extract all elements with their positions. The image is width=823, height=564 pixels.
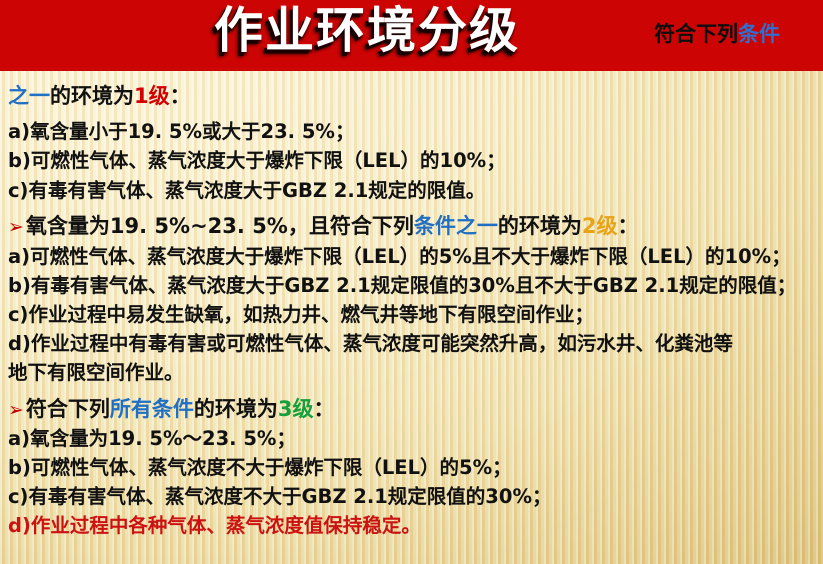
list-item: c)有毒有害气体、蒸气浓度不大于GBZ 2.1规定限值的30%； xyxy=(8,487,552,507)
header-note-blue: 条件 xyxy=(738,22,780,46)
heading-level-3-part-2: 的环境为 xyxy=(194,397,278,421)
list-item: a)氧含量为19. 5%～23. 5%； xyxy=(8,429,296,449)
list-item: b)有毒有害气体、蒸气浓度大于GBZ 2.1规定限值的30%且不大于GBZ 2.… xyxy=(8,276,796,296)
list-item: d)作业过程中有毒有害或可燃性气体、蒸气浓度可能突然升高，如污水井、化粪池等 xyxy=(8,334,733,354)
heading-level-1-part-0: 之一 xyxy=(8,84,50,108)
heading-level-1: 之一的环境为1级： xyxy=(8,86,191,107)
list-item: c)作业过程中易发生缺氧，如热力井、燃气井等地下有限空间作业； xyxy=(8,305,594,325)
heading-level-2-part-3: 2级 xyxy=(582,214,618,238)
heading-level-2: ➢氧含量为19. 5%~23. 5%，且符合下列条件之一的环境为2级： xyxy=(8,216,638,237)
slide-root: 作业环境分级 符合下列条件 之一的环境为1级： a)氧含量小于19. 5%或大于… xyxy=(0,0,823,564)
page-title: 作业环境分级 xyxy=(214,0,520,64)
heading-level-2-part-2: 的环境为 xyxy=(498,214,582,238)
list-item: b)可燃性气体、蒸气浓度不大于爆炸下限（LEL）的5%； xyxy=(8,458,512,478)
heading-level-1-part-2: 1级 xyxy=(134,84,170,108)
list-item: a)可燃性气体、蒸气浓度大于爆炸下限（LEL）的5%且不大于爆炸下限（LEL）的… xyxy=(8,247,791,267)
heading-level-3: ➢符合下列所有条件的环境为3级： xyxy=(8,399,335,420)
heading-level-3-part-1: 所有条件 xyxy=(110,397,194,421)
slide-header-banner: 作业环境分级 符合下列条件 xyxy=(0,0,823,71)
list-item-continuation: 地下有限空间作业。 xyxy=(8,363,184,383)
arrow-bullet-icon: ➢ xyxy=(8,216,26,238)
heading-level-1-part-3: ： xyxy=(170,84,191,108)
heading-level-2-part-0: 氧含量为19. 5%~23. 5%，且符合下列 xyxy=(26,214,414,238)
arrow-bullet-icon: ➢ xyxy=(8,399,26,421)
heading-level-2-part-4: ： xyxy=(617,214,638,238)
list-item: c)有毒有害气体、蒸气浓度大于GBZ 2.1规定的限值。 xyxy=(8,181,485,201)
list-item: a)氧含量小于19. 5%或大于23. 5%； xyxy=(8,122,354,142)
list-item-highlight: d)作业过程中各种气体、蒸气浓度值保持稳定。 xyxy=(8,516,421,536)
heading-level-3-part-0: 符合下列 xyxy=(26,397,110,421)
header-note: 符合下列条件 xyxy=(654,19,780,49)
slide-body: 之一的环境为1级： a)氧含量小于19. 5%或大于23. 5%； b)可燃性气… xyxy=(0,71,823,564)
heading-level-2-part-1: 条件之一 xyxy=(414,214,498,238)
header-note-black: 符合下列 xyxy=(654,22,738,46)
heading-level-3-part-3: 3级 xyxy=(278,397,314,421)
heading-level-3-part-4: ： xyxy=(314,397,335,421)
list-item: b)可燃性气体、蒸气浓度大于爆炸下限（LEL）的10%； xyxy=(8,151,506,171)
heading-level-1-part-1: 的环境为 xyxy=(50,84,134,108)
